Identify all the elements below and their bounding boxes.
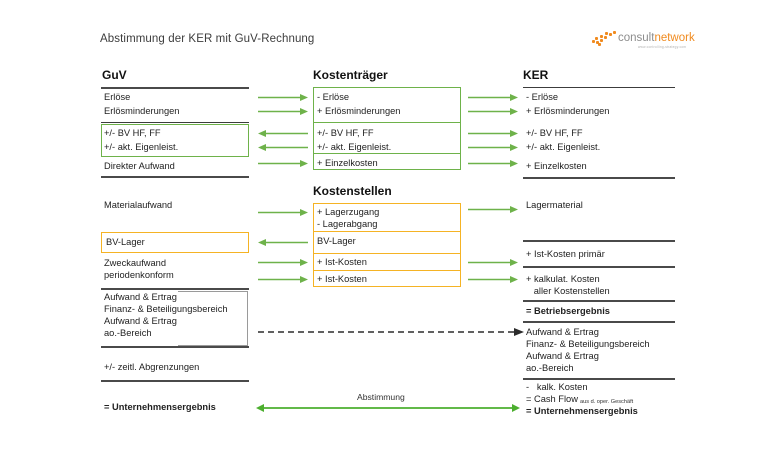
column-header-guv: GuV (102, 68, 127, 82)
ker-rule-4 (523, 300, 675, 302)
ker-row-ao-bereich: ao.-Bereich (526, 363, 574, 375)
guv-row-direkter-aufwand: Direkter Aufwand (104, 161, 175, 173)
arrow-guv-to-kostentraeger-einzelkosten (258, 159, 308, 168)
kostenstellen-row-lagerabgang: - Lagerabgang (317, 219, 377, 231)
ker-row-einzelkosten: + Einzelkosten (526, 161, 587, 173)
kostenstellen-row-ist-kosten-2: + Ist-Kosten (317, 274, 367, 286)
ker-row-betriebsergebnis: = Betriebsergebnis (526, 306, 610, 318)
arrow-kostentraeger-to-guv-akt-eigenleist (258, 143, 308, 152)
guv-row-aufwand-ertrag-1: Aufwand & Ertrag (104, 292, 177, 304)
column-header-kostentraeger: Kostenträger (313, 68, 388, 82)
ker-row-kalk-kosten: - kalk. Kosten (526, 382, 588, 394)
kostenstellen-divider-1 (313, 231, 461, 232)
ker-rule-3 (523, 266, 675, 268)
arrow-kostenstellen-to-guv-bv-lager (258, 238, 308, 247)
logo-word-consult: consult (618, 32, 654, 44)
arrow-kostentraeger-to-ker-einzelkosten (468, 159, 518, 168)
page-title: Abstimmung der KER mit GuV-Rechnung (100, 33, 314, 45)
kostenstellen-row-ist-kosten-1: + Ist-Kosten (317, 257, 367, 269)
ker-row-bv-hf-ff: +/- BV HF, FF (526, 128, 583, 140)
ker-row-ist-kosten-primaer: + Ist-Kosten primär (526, 249, 605, 261)
ker-row-aufwand-ertrag-2: Aufwand & Ertrag (526, 351, 599, 363)
kostenstellen-row-lagerzugang: + Lagerzugang (317, 207, 379, 219)
logo-wordmark: consultnetwork (618, 32, 695, 44)
arrow-guv-to-kostentraeger-erloesminderungen (258, 107, 308, 116)
guv-rule-2 (101, 176, 249, 178)
kostentraeger-divider-1 (313, 122, 461, 123)
guv-row-erloese: Erlöse (104, 92, 130, 104)
ker-row-aller-kostenstellen: aller Kostenstellen (526, 286, 610, 298)
ker-row-unternehmensergebnis: = Unternehmensergebnis (526, 406, 638, 418)
guv-row-aufwand-ertrag-2: Aufwand & Ertrag (104, 316, 177, 328)
kostenstellen-row-bv-lager: BV-Lager (317, 236, 356, 248)
diagram-canvas: Abstimmung der KER mit GuV-Rechnung cons… (0, 0, 775, 449)
arrow-guv-to-kostenstellen-lagerzugang (258, 208, 308, 217)
arrow-guv-to-kostentraeger-erloese (258, 93, 308, 102)
guv-rule-1 (101, 122, 249, 123)
arrow-kostentraeger-to-guv-bv-hf-ff (258, 129, 308, 138)
ker-row-finanz-beteiligung: Finanz- & Beteiligungsbereich (526, 339, 650, 351)
kostenstellen-divider-2 (313, 253, 461, 254)
arrow-kostentraeger-to-ker-erloese (468, 93, 518, 102)
ker-rule-6 (523, 378, 675, 380)
ker-row-aufwand-ertrag-1: Aufwand & Ertrag (526, 327, 599, 339)
guv-row-unternehmensergebnis: = Unternehmensergebnis (104, 402, 216, 414)
ker-row-kalkulat-kosten: + kalkulat. Kosten (526, 274, 600, 286)
guv-rule-3 (101, 288, 249, 290)
arrow-kostenstellen-to-ker-ist-kosten-primaer (468, 258, 518, 267)
guv-top-rule (101, 87, 249, 89)
guv-row-periodenkonform: periodenkonform (104, 270, 174, 282)
guv-row-materialaufwand: Materialaufwand (104, 200, 172, 212)
guv-row-erloesminderungen: Erlösminderungen (104, 106, 179, 118)
logo-word-network: network (654, 32, 694, 44)
arrow-guv-to-kostenstellen-ist-kosten-2 (258, 275, 308, 284)
guv-bracket (178, 291, 248, 346)
arrow-kostentraeger-to-ker-akt-eigenleist (468, 143, 518, 152)
arrow-kostentraeger-to-ker-erloesminderungen (468, 107, 518, 116)
guv-rule-4 (101, 346, 249, 348)
arrow-abstimmung-double (256, 403, 520, 413)
ker-row-akt-eigenleist: +/- akt. Eigenleist. (526, 142, 600, 154)
guv-row-zeitl-abgrenzungen: +/- zeitl. Abgrenzungen (104, 362, 199, 374)
ker-row-lagermaterial: Lagermaterial (526, 200, 583, 212)
kostentraeger-row-erloesminderungen: + Erlösminderungen (317, 106, 400, 118)
ker-rule-5 (523, 321, 675, 323)
ker-top-rule (523, 87, 675, 88)
logo-dots-icon (592, 31, 618, 44)
kostentraeger-row-akt-eigenleist: +/- akt. Eigenleist. (317, 142, 391, 154)
column-header-kostenstellen: Kostenstellen (313, 184, 392, 198)
guv-row-bv-lager: BV-Lager (106, 237, 145, 249)
kostentraeger-row-einzelkosten: + Einzelkosten (317, 158, 378, 170)
ker-row-erloesminderungen: + Erlösminderungen (526, 106, 609, 118)
ker-row-cash-flow: = Cash Flow (526, 394, 578, 406)
abstimmung-label: Abstimmung (357, 392, 405, 402)
ker-row-erloese: - Erlöse (526, 92, 558, 104)
kostentraeger-row-erloese: - Erlöse (317, 92, 349, 104)
guv-rule-5 (101, 380, 249, 382)
arrow-kostentraeger-to-ker-bv-hf-ff (468, 129, 518, 138)
kostentraeger-row-bv-hf-ff: +/- BV HF, FF (317, 128, 374, 140)
arrow-dashed-guv-to-ker (258, 327, 524, 337)
arrow-kostenstellen-to-ker-kalkulat-kosten (468, 275, 518, 284)
arrow-guv-to-kostenstellen-ist-kosten-1 (258, 258, 308, 267)
guv-row-akt-eigenleist: +/- akt. Eigenleist. (104, 142, 178, 154)
ker-rule-1 (523, 177, 675, 179)
guv-row-ao-bereich: ao.-Bereich (104, 328, 152, 340)
ker-rule-2 (523, 240, 675, 242)
consultnetwork-logo: consultnetwork www.controlling-strategy.… (592, 29, 684, 53)
guv-row-finanz-beteiligung: Finanz- & Beteiligungsbereich (104, 304, 228, 316)
column-header-ker: KER (523, 68, 548, 82)
kostenstellen-divider-3 (313, 270, 461, 271)
logo-tagline: www.controlling-strategy.com (638, 45, 686, 49)
arrow-kostenstellen-to-ker-lagermaterial (468, 205, 518, 214)
guv-row-zweckaufwand: Zweckaufwand (104, 258, 166, 270)
guv-row-bv-hf-ff: +/- BV HF, FF (104, 128, 161, 140)
